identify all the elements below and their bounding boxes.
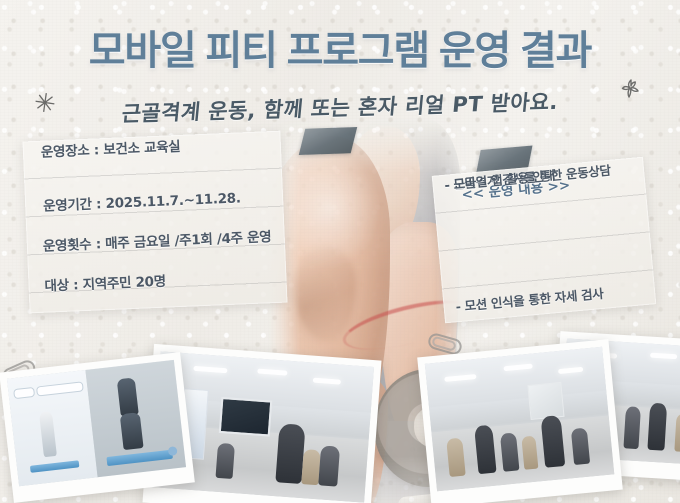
participant [216,443,236,480]
sparkle-asterisk-icon: ✳ [32,87,58,121]
camera-indicator [168,446,178,456]
tape-left [299,127,358,155]
poster-canvas: 모바일 피티 프로그램 운영 결과 근골격계 운동, 함께 또는 혼자 리얼 P… [0,0,680,503]
wall-mirror [527,382,564,420]
photo-frame-motion-recognition-kiosk [0,352,195,503]
program-content-card: << 운영 내용 >> - 모션 인식을 통한 자세 검사 - 근골격계 검사를… [432,157,657,324]
info-row-period: 운영기간 : 2025.11.7.~11.28. [43,186,241,214]
app-avatar [39,411,57,457]
display-screen [219,397,273,437]
page-title: 모바일 피티 프로그램 운영 결과 [0,28,680,74]
app-mat [29,460,78,473]
camera-mat [106,449,173,466]
app-label [13,387,35,399]
info-row-target: 대상 : 지역주민 20명 [44,270,166,295]
program-info-card: 운영기간 : 2025.11.7.~11.28. 운영횟수 : 매주 금요일 /… [23,131,288,314]
app-label [36,381,83,396]
participant [647,403,666,451]
camera-avatar-lower [120,412,144,451]
info-row-frequency: 운영횟수 : 매주 금요일 /주1회 /4주 운영 [42,225,271,255]
kiosk-app-panel [7,370,99,486]
info-row-venue: 운영장소 : 보건소 교육실 [40,135,180,161]
camera-avatar-upper [117,377,139,415]
flower-outline-icon [618,76,644,109]
photo-stretching-session [425,347,614,491]
participant [571,428,590,465]
photo-motion-recognition-kiosk [7,360,186,486]
participant [318,445,340,487]
participant [623,406,641,449]
photo-frame-stretching-session [417,339,623,503]
content-item-posture-check: - 모션 인식을 통한 자세 검사 [455,283,604,315]
kiosk-camera-panel [85,360,186,477]
